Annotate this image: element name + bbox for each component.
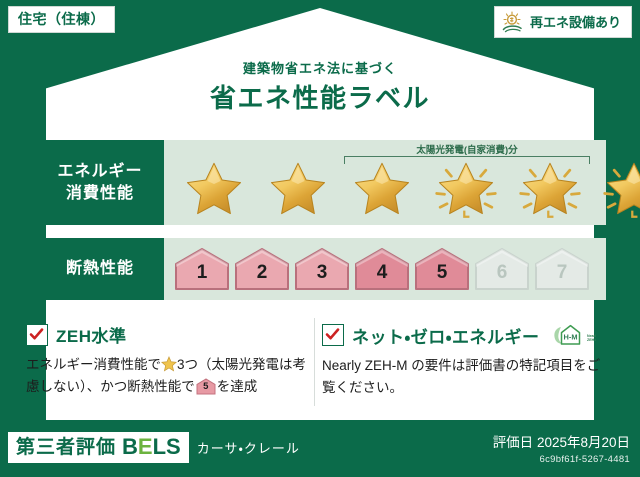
insulation-performance-row: 断熱性能 1 2 3 4 5 6 7 — [36, 238, 606, 300]
svg-text:H-M: H-M — [563, 332, 577, 341]
insulation-grade-3: 3 — [294, 246, 350, 292]
insulation-grade-value: 7 — [534, 262, 590, 284]
insulation-grade-value: 2 — [234, 262, 290, 284]
evaluation-id: 6c9bf61f-5267-4481 — [493, 454, 630, 465]
star-icon — [340, 159, 424, 221]
star-icon — [256, 159, 340, 221]
inline-star-icon — [161, 356, 177, 372]
footer-right: 評価日 2025年8月20日 6c9bf61f-5267-4481 — [493, 431, 630, 465]
insulation-grade-scale: 1 2 3 4 5 6 7 — [164, 238, 606, 300]
renewable-energy-badge: 再エネ設備あり — [494, 6, 632, 38]
net-zero-energy-header: ネット・ゼロ・エネルギー H-M Nearly ZEH-M — [322, 322, 604, 348]
zeh-standard-title: ZEH水準 — [56, 322, 127, 347]
insulation-grade-1: 1 — [174, 246, 230, 292]
energy-performance-row: エネルギー 消費性能 太陽光発電(自家消費)分 — [36, 140, 606, 225]
bels-certification-mark: 第三者評価 BELS — [8, 432, 189, 463]
insulation-grade-7: 7 — [534, 246, 590, 292]
solar-star-icon — [592, 159, 640, 221]
energy-performance-body: 太陽光発電(自家消費)分 — [164, 140, 606, 225]
star-icon — [172, 159, 256, 221]
net-zero-energy-title: ネット・ゼロ・エネルギー — [352, 323, 540, 348]
solar-note-label: 太陽光発電(自家消費)分 — [342, 142, 592, 156]
net-zero-energy-description: Nearly ZEH-M の要件は評価書の特記項目をご覧ください。 — [322, 355, 604, 400]
insulation-grade-value: 6 — [474, 262, 530, 284]
svg-text:ZEH-M: ZEH-M — [587, 338, 596, 342]
net-zero-energy-checkbox — [322, 324, 344, 346]
bels-logo-text: BELS — [122, 436, 181, 458]
zeh-desc-part1: エネルギー消費性能で — [26, 357, 161, 372]
bels-jp-label: 第三者評価 — [16, 438, 116, 457]
zeh-standard-section: ZEH水準 エネルギー消費性能で3つ（太陽光発電は考慮しない）、かつ断熱性能で5… — [26, 322, 316, 399]
inline-grade-value: 5 — [196, 379, 216, 395]
energy-label-line1: エネルギー — [57, 161, 142, 183]
check-icon — [325, 327, 340, 342]
sun-icon — [501, 11, 525, 33]
net-zero-energy-section: ネット・ゼロ・エネルギー H-M Nearly ZEH-M Nearly ZEH… — [322, 322, 604, 400]
label-subtitle: 建築物省エネ法に基づく — [0, 58, 640, 77]
check-icon — [29, 327, 44, 342]
zeh-desc-part3: を達成 — [217, 379, 258, 394]
energy-label-root: 住宅（住棟） 再エネ設備あり 建築物省エネ法に基づく 省エ — [0, 0, 640, 477]
solar-star-icon — [424, 159, 508, 221]
solar-star-icon — [508, 159, 592, 221]
building-type-tag: 住宅（住棟） — [8, 6, 115, 33]
evaluation-date: 評価日 2025年8月20日 — [493, 431, 630, 451]
zeh-standard-description: エネルギー消費性能で3つ（太陽光発電は考慮しない）、かつ断熱性能で5を達成 — [26, 354, 316, 399]
insulation-performance-body: 1 2 3 4 5 6 7 — [164, 238, 606, 300]
insulation-grade-6: 6 — [474, 246, 530, 292]
insulation-grade-value: 4 — [354, 262, 410, 284]
energy-star-rating — [164, 159, 606, 221]
insulation-grade-value: 5 — [414, 262, 470, 284]
insulation-grade-4: 4 — [354, 246, 410, 292]
label-title: 省エネ性能ラベル — [0, 78, 640, 115]
insulation-grade-value: 3 — [294, 262, 350, 284]
zeh-standard-checkbox — [26, 324, 48, 346]
inline-grade-badge: 5 — [196, 378, 216, 395]
bels-letter-b: B — [122, 434, 138, 459]
nearly-zehm-logo-icon: H-M Nearly ZEH-M — [550, 322, 596, 348]
footer-left: 第三者評価 BELS カーサ・クレール — [8, 432, 300, 463]
zeh-standard-header: ZEH水準 — [26, 322, 316, 347]
insulation-performance-label: 断熱性能 — [36, 238, 164, 300]
energy-performance-label: エネルギー 消費性能 — [36, 140, 164, 225]
insulation-label-text: 断熱性能 — [66, 258, 134, 280]
insulation-grade-value: 1 — [174, 262, 230, 284]
insulation-grade-2: 2 — [234, 246, 290, 292]
bels-letter-ls: LS — [153, 434, 181, 459]
renewable-badge-label: 再エネ設備あり — [530, 16, 621, 29]
energy-label-line2: 消費性能 — [66, 183, 134, 205]
bels-letter-e: E — [138, 434, 153, 459]
insulation-grade-5: 5 — [414, 246, 470, 292]
building-name: カーサ・クレール — [197, 438, 300, 457]
